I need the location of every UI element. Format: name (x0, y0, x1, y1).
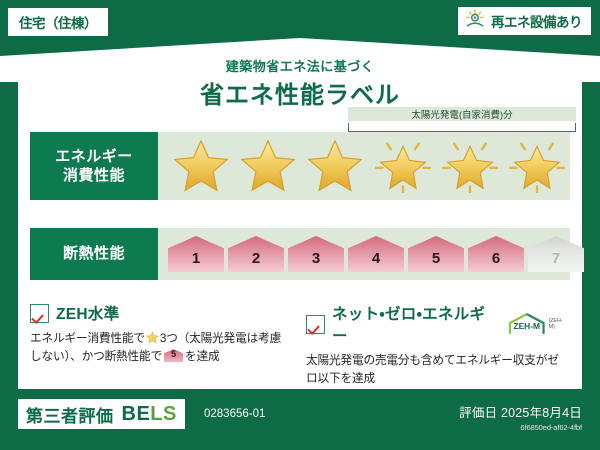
grade-value: 2 (252, 250, 260, 272)
energy-label-line1: エネルギー (55, 147, 133, 166)
star-icon-solar (509, 139, 565, 193)
net-zero-title: ネット・ゼロ・エネルギー (332, 302, 499, 346)
evaluation-date-block: 評価日 2025年8月4日 6f6850ed-af62-4fbf (459, 402, 582, 432)
star-item-solar (437, 136, 502, 196)
energy-performance-stars-cell: 太陽光発電(自家消費)分 (158, 132, 570, 200)
bracket-line (348, 123, 576, 132)
star-icon (307, 139, 363, 193)
star-icon-inline (146, 331, 159, 344)
energy-label-line2: 消費性能 (63, 166, 125, 185)
energy-performance-row: エネルギー 消費性能 太陽光発電(自家消費)分 (30, 132, 570, 200)
renewable-equipment-badge: 再エネ設備あり (458, 7, 591, 35)
grade-value: 3 (312, 250, 320, 272)
insulation-grade-list: 1 2 3 4 5 (168, 228, 584, 280)
bels-logo-part2: LS (150, 403, 177, 425)
grade-value: 4 (372, 250, 380, 272)
insulation-grades-cell: 1 2 3 4 5 (158, 228, 570, 280)
zeh-checkbox-checked-icon (30, 304, 49, 323)
grade-house: 2 (228, 236, 284, 272)
insulation-label-cell: 断熱性能 (30, 228, 158, 280)
zeh-m-logo: ZEH-M (ZEH-M) (507, 312, 568, 336)
evaluation-date: 評価日 2025年8月4日 (459, 402, 582, 421)
insulation-performance-row: 断熱性能 1 2 3 4 (30, 228, 570, 280)
grade-house: 3 (288, 236, 344, 272)
star-icon-solar (442, 139, 498, 193)
grade-house: 4 (348, 236, 404, 272)
bels-logo: BELS (122, 403, 177, 426)
sun-icon (464, 9, 486, 34)
grade-house: 1 (168, 236, 224, 272)
grade-value: 7 (552, 250, 560, 272)
grade-value: 5 (432, 250, 440, 272)
star-icon (173, 139, 229, 193)
document-hash: 6f6850ed-af62-4fbf (459, 423, 582, 432)
grade-value: 5 (164, 349, 183, 362)
zeh-description: エネルギー消費性能で3つ（太陽光発電は考慮しない）、かつ断熱性能で5を達成 (30, 330, 292, 366)
star-rating (164, 132, 570, 200)
svg-text:ZEH-M: ZEH-M (514, 321, 541, 331)
zeh-m-house-icon: ZEH-M (507, 312, 546, 336)
left-border (0, 82, 18, 389)
net-zero-criterion: ネット・ゼロ・エネルギー ZEH-M (ZEH-M) 太陽光発電の売電分も含めて… (306, 302, 568, 388)
star-item (235, 136, 300, 196)
star-item-solar (370, 136, 435, 196)
bels-number: 0283656-01 (204, 408, 265, 420)
right-border (582, 82, 600, 389)
net-zero-description: 太陽光発電の売電分も含めてエネルギー収支がゼロ以下を達成 (306, 352, 568, 388)
building-type-label: 住宅（住棟） (19, 12, 97, 32)
star-item (168, 136, 233, 196)
grade-value: 6 (492, 250, 500, 272)
grade-house-inactive: 7 (528, 236, 584, 272)
energy-performance-label-cell: エネルギー 消費性能 (30, 132, 158, 200)
net-zero-checkbox-checked-icon (306, 315, 325, 334)
zeh-m-caption: (ZEH-M) (549, 318, 568, 330)
renewable-badge-label: 再エネ設備あり (491, 11, 582, 31)
bels-evaluation-box: 第三者評価 BELS (18, 399, 185, 429)
third-party-label: 第三者評価 (26, 402, 114, 427)
grade-house: 6 (468, 236, 524, 272)
star-item-solar (505, 136, 570, 196)
building-type-tab: 住宅（住棟） (8, 8, 108, 36)
zeh-desc-part1: エネルギー消費性能で (30, 332, 145, 345)
grade-house: 5 (408, 236, 464, 272)
star-icon-solar (375, 139, 431, 193)
zeh-criterion: ZEH水準 エネルギー消費性能で3つ（太陽光発電は考慮しない）、かつ断熱性能で5… (30, 302, 292, 366)
zeh-header: ZEH水準 (30, 302, 292, 324)
solar-generation-bracket: 太陽光発電(自家消費)分 (348, 110, 576, 132)
grade-value: 1 (192, 250, 200, 272)
star-icon (240, 139, 296, 193)
title-subtitle: 建築物省エネ法に基づく (0, 56, 600, 75)
page-title: 省エネ性能ラベル (0, 75, 600, 110)
bels-logo-part1: BE (122, 403, 151, 425)
zeh-desc-part3: を達成 (185, 350, 219, 363)
solar-bracket-label: 太陽光発電(自家消費)分 (348, 107, 576, 121)
star-item (303, 136, 368, 196)
net-zero-header: ネット・ゼロ・エネルギー ZEH-M (ZEH-M) (306, 302, 568, 346)
zeh-title: ZEH水準 (56, 302, 120, 324)
grade-badge-inline: 5 (164, 349, 183, 362)
energy-performance-label: 住宅（住棟） 再エネ設備あり 建築物省エネ法に基づく 省エネ性能ラベル (0, 0, 600, 450)
insulation-label: 断熱性能 (63, 244, 125, 263)
